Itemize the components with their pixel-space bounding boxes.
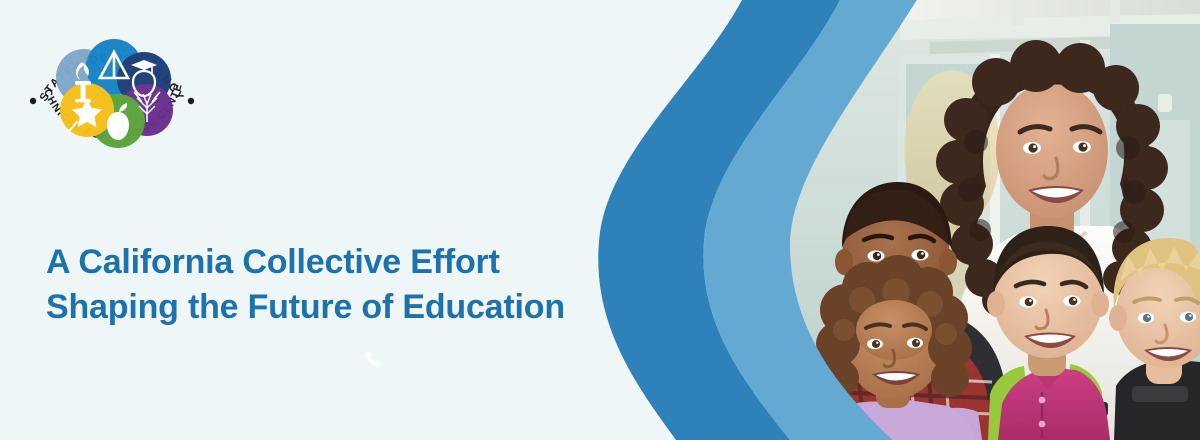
headline-line-1: A California Collective Effort [46,240,646,285]
swrtac-logo-mark: STATEWIDE RESIDENCY TECHNICAL ASSISTANCE… [24,22,200,172]
swrtac-logo[interactable]: STATEWIDE RESIDENCY TECHNICAL ASSISTANCE… [24,22,200,172]
page-title: A California Collective Effort Shaping t… [46,240,646,330]
hero-banner: STATEWIDE RESIDENCY TECHNICAL ASSISTANCE… [0,0,1200,440]
headline-line-2: Shaping the Future of Education [46,285,646,330]
teacher-with-students-photo [780,0,1200,440]
photo-container [780,0,1200,440]
phone-handset-icon[interactable] [362,350,382,370]
logo-bullet-left-dot [30,98,36,104]
logo-bullet-right-dot [188,98,194,104]
phone-handset-glyph [362,350,382,370]
